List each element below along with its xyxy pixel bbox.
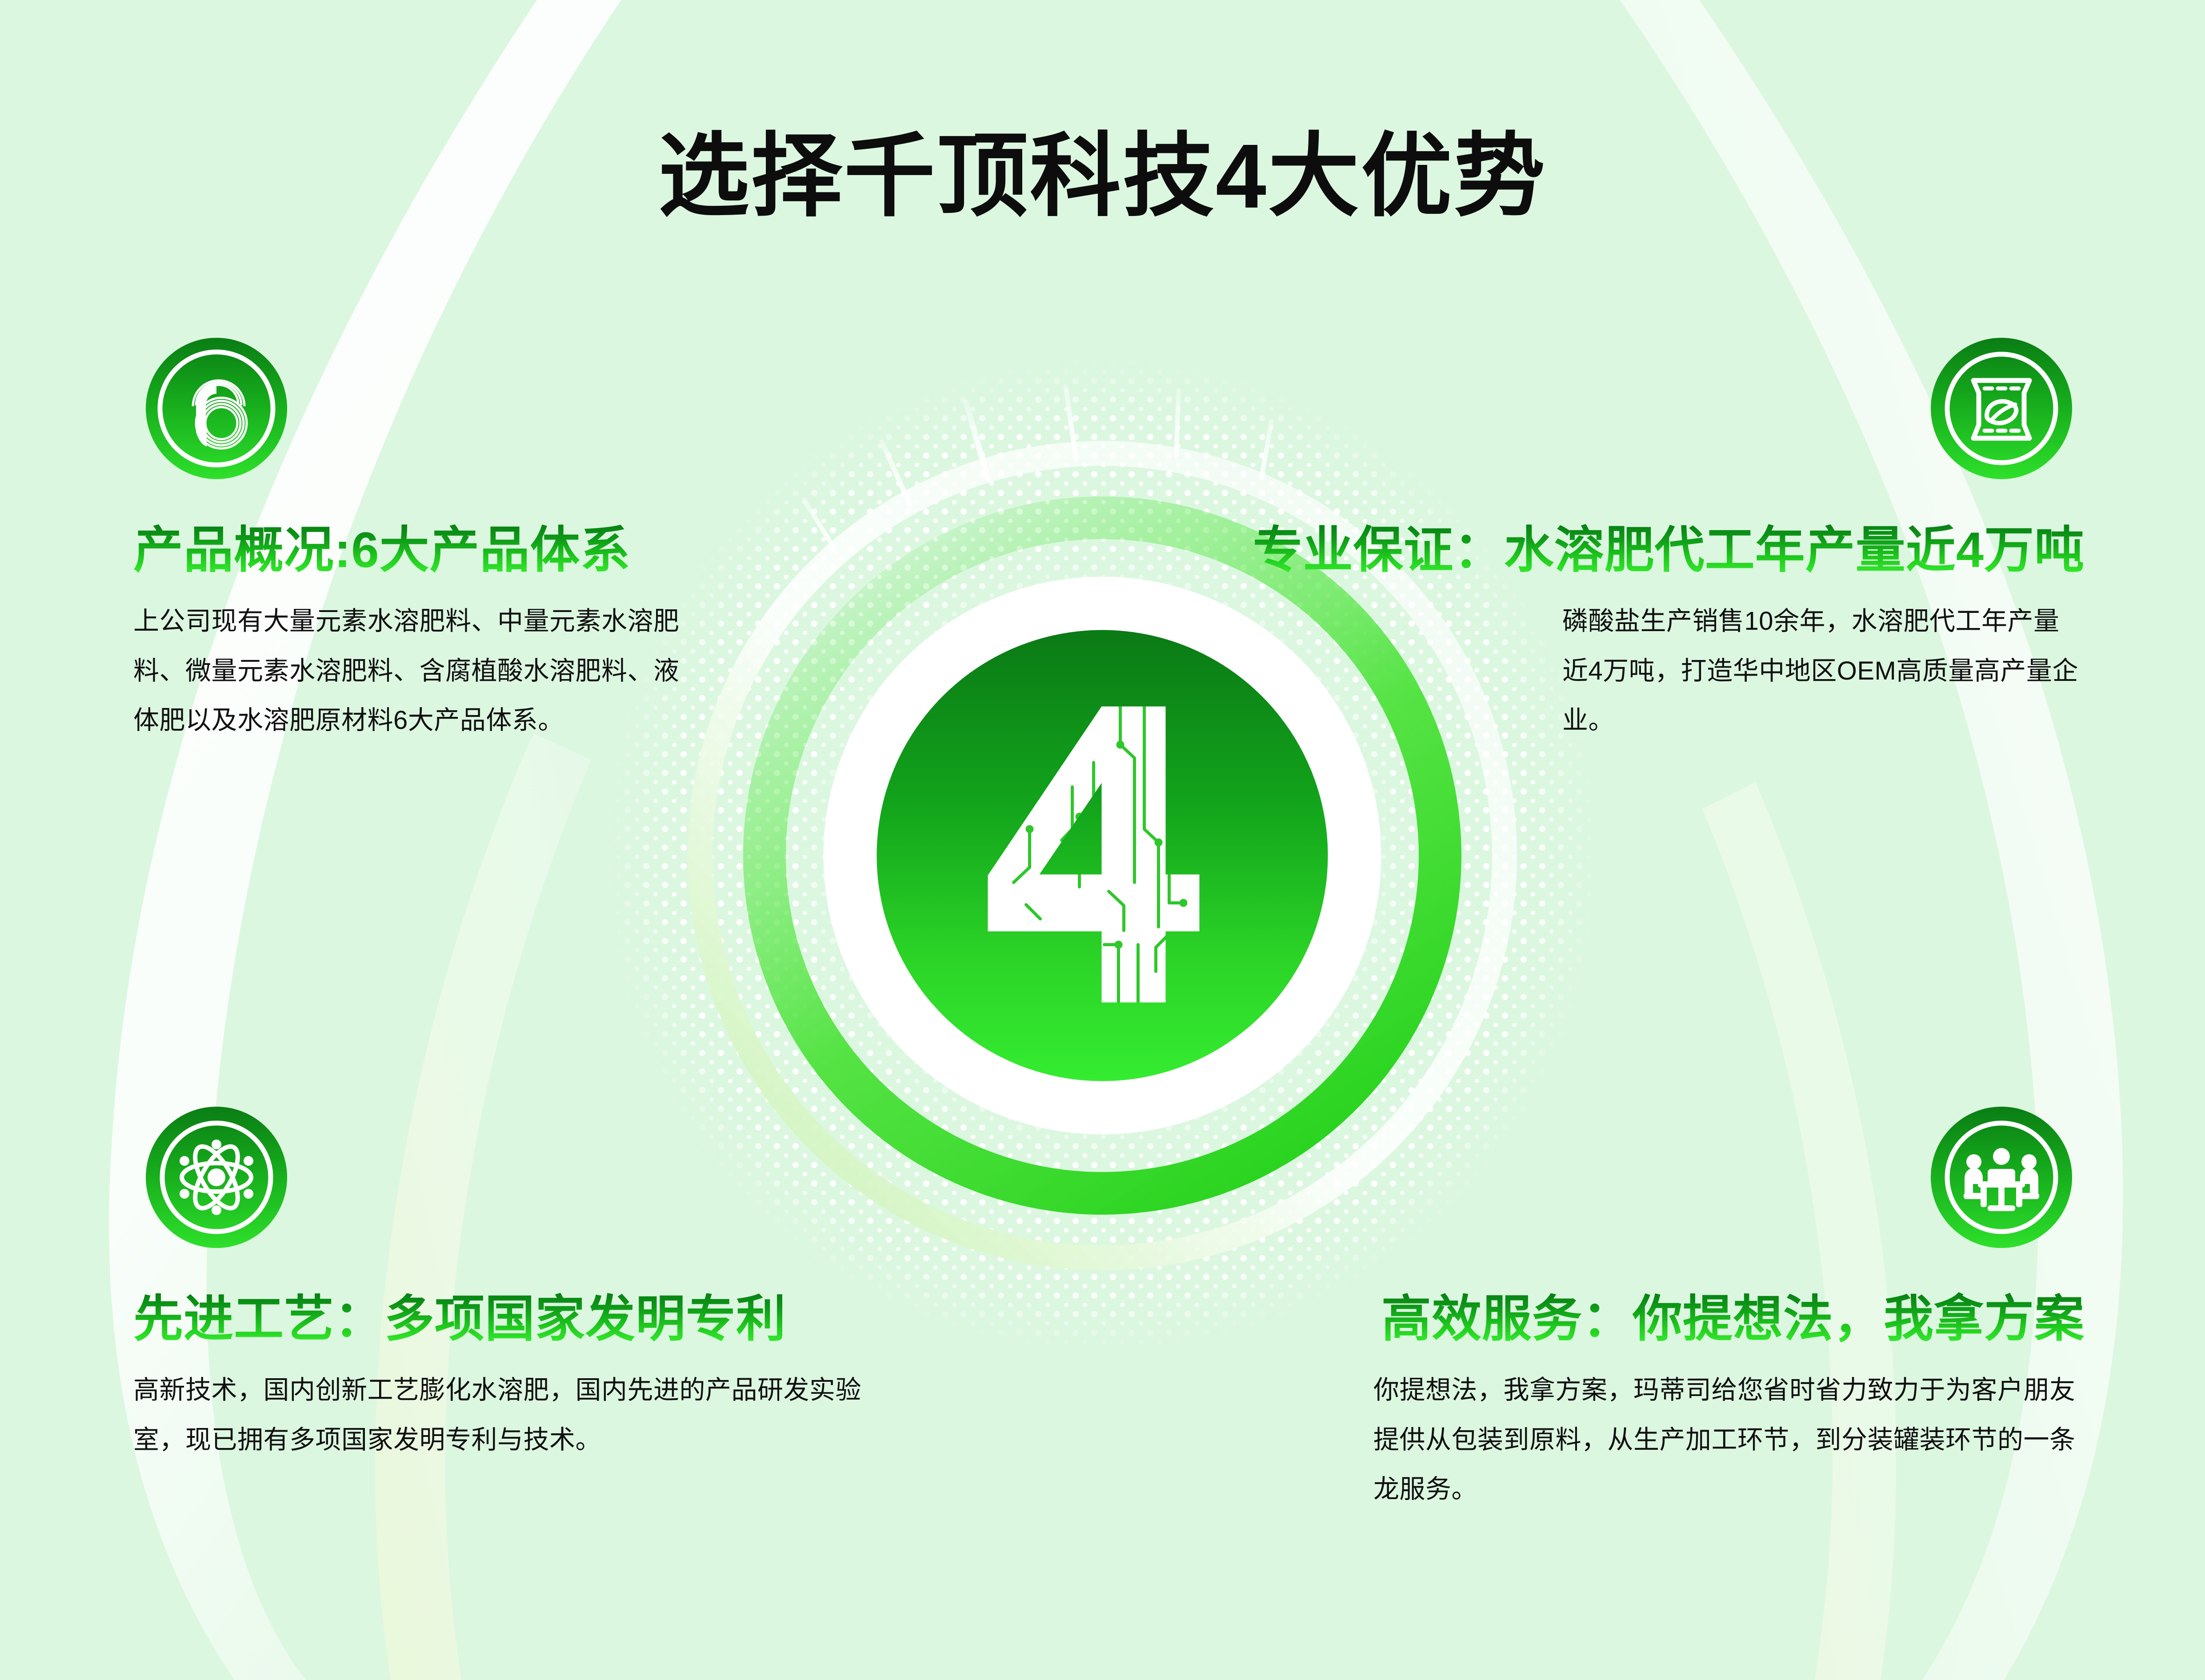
number-six-rings-icon — [146, 338, 287, 479]
feature-icon-badge-efficient-service — [1931, 1107, 2072, 1248]
feature-body: 高新技术，国内创新工艺膨化水溶肥，国内先进的产品研发实验室，现已拥有多项国家发明… — [133, 1365, 880, 1464]
feature-body: 你提想法，我拿方案，玛蒂司给您省时省力致力于为客户朋友提供从包装到原料，从生产加… — [1373, 1365, 2085, 1514]
feature-body: 磷酸盐生产销售10余年，水溶肥代工年产量近4万吨，打造华中地区OEM高质量高产量… — [1562, 596, 2085, 745]
meeting-team-icon — [1931, 1107, 2072, 1248]
feature-icon-badge-product-overview — [146, 338, 287, 479]
atom-icon — [146, 1107, 287, 1248]
feature-efficient-service: 高效服务：你提想法，我拿方案 你提想法，我拿方案，玛蒂司给您省时省力致力于为客户… — [1329, 1107, 2085, 1514]
fertilizer-bag-icon — [1931, 338, 2072, 479]
feature-heading: 高效服务：你提想法，我拿方案 — [1329, 1291, 2085, 1347]
feature-product-overview: 产品概况:6大产品体系 上公司现有大量元素水溶肥料、中量元素水溶肥料、微量元素水… — [133, 338, 707, 745]
feature-professional-guarantee: 专业保证：水溶肥代工年产量近4万吨 磷酸盐生产销售10余年，水溶肥代工年产量近4… — [1200, 338, 2085, 745]
feature-advanced-process: 先进工艺：多项国家发明专利 高新技术，国内创新工艺膨化水溶肥，国内先进的产品研发… — [133, 1107, 889, 1464]
page-title: 选择千顶科技4大优势 — [0, 102, 2205, 234]
feature-heading: 产品概况:6大产品体系 — [133, 522, 707, 578]
feature-heading: 先进工艺：多项国家发明专利 — [133, 1291, 889, 1347]
feature-icon-badge-advanced-process — [146, 1107, 287, 1248]
feature-body: 上公司现有大量元素水溶肥料、中量元素水溶肥料、微量元素水溶肥料、含腐植酸水溶肥料… — [133, 596, 682, 745]
feature-heading: 专业保证：水溶肥代工年产量近4万吨 — [1200, 522, 2085, 578]
feature-icon-badge-professional-guarantee — [1931, 338, 2072, 479]
